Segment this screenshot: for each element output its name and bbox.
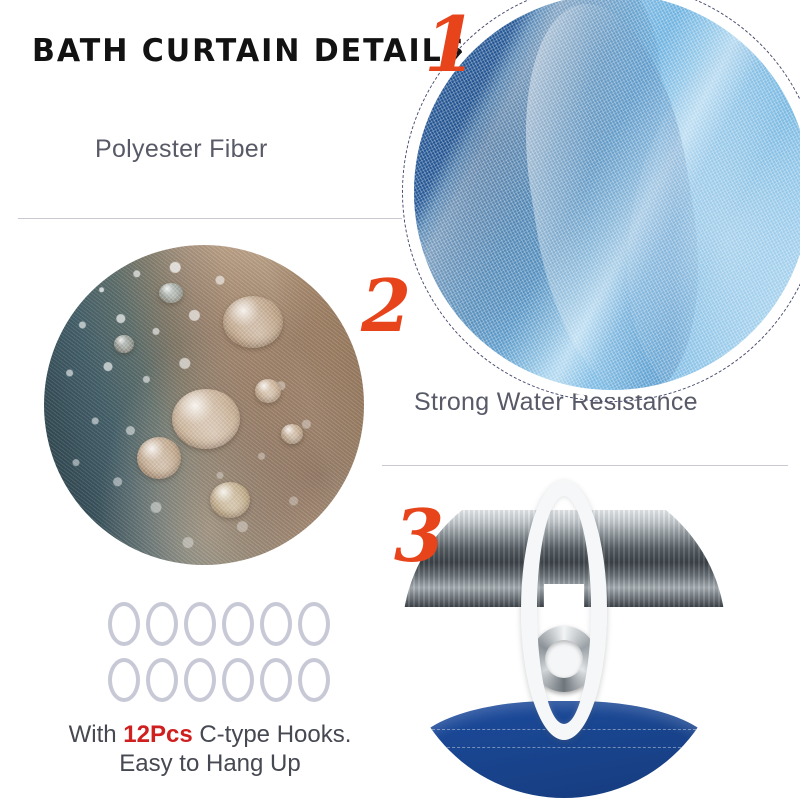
oval-ring-hook-icon [184,658,216,702]
droplet-fabric-texture [137,437,181,479]
panel-2-water-resistance [38,239,370,571]
droplet-fabric-texture [281,424,303,444]
hook-opening-gap [544,584,584,610]
hooks-count-highlight: 12Pcs [123,721,192,748]
panel-3-hook-hanging [396,468,732,800]
step-number-1: 1 [424,7,477,83]
oval-ring-hook-icon [108,602,140,646]
oval-ring-hook-icon [108,658,140,702]
droplet-fabric-texture [172,389,240,449]
hooks-caption: With 12Pcs C-type Hooks. Easy to Hang Up [0,720,420,779]
water-droplet-large [210,482,250,518]
hooks-caption-prefix: With [69,721,124,748]
water-droplet-large [172,389,240,449]
oval-ring-hook-icon [222,658,254,702]
step-number-2: 2 [361,270,411,342]
oval-ring-hook-icon [146,602,178,646]
oval-ring-hook-icon [298,602,330,646]
oval-ring-hook-icon [146,658,178,702]
c-type-hook [521,480,607,740]
hook-rings-grid [108,602,332,702]
curtain-stitching [427,747,701,748]
product-detail-infographic: BATH CURTAIN DETAILS Polyester Fiber Str… [0,0,800,800]
water-droplet-large [223,296,283,348]
photo-water-beads [44,245,364,565]
hooks-caption-line-2: Easy to Hang Up [0,749,420,778]
water-droplet-large [137,437,181,479]
oval-ring-hook-icon [184,602,216,646]
hooks-caption-line-1: With 12Pcs C-type Hooks. [0,720,420,749]
droplet-fabric-texture [223,296,283,348]
hooks-caption-suffix: C-type Hooks. [193,721,352,748]
divider-bottom [382,465,788,466]
oval-ring-hook-icon [260,658,292,702]
caption-polyester-fiber: Polyester Fiber [95,135,268,164]
step-number-3: 3 [394,500,444,572]
oval-ring-hook-icon [222,602,254,646]
droplet-fabric-texture [114,335,134,353]
divider-top [18,218,402,219]
water-droplet-medium [114,335,134,353]
droplet-fabric-texture [210,482,250,518]
oval-ring-hook-icon [260,602,292,646]
water-droplet-medium [281,424,303,444]
oval-ring-hook-icon [298,658,330,702]
photo-hook-on-rod [402,474,726,798]
